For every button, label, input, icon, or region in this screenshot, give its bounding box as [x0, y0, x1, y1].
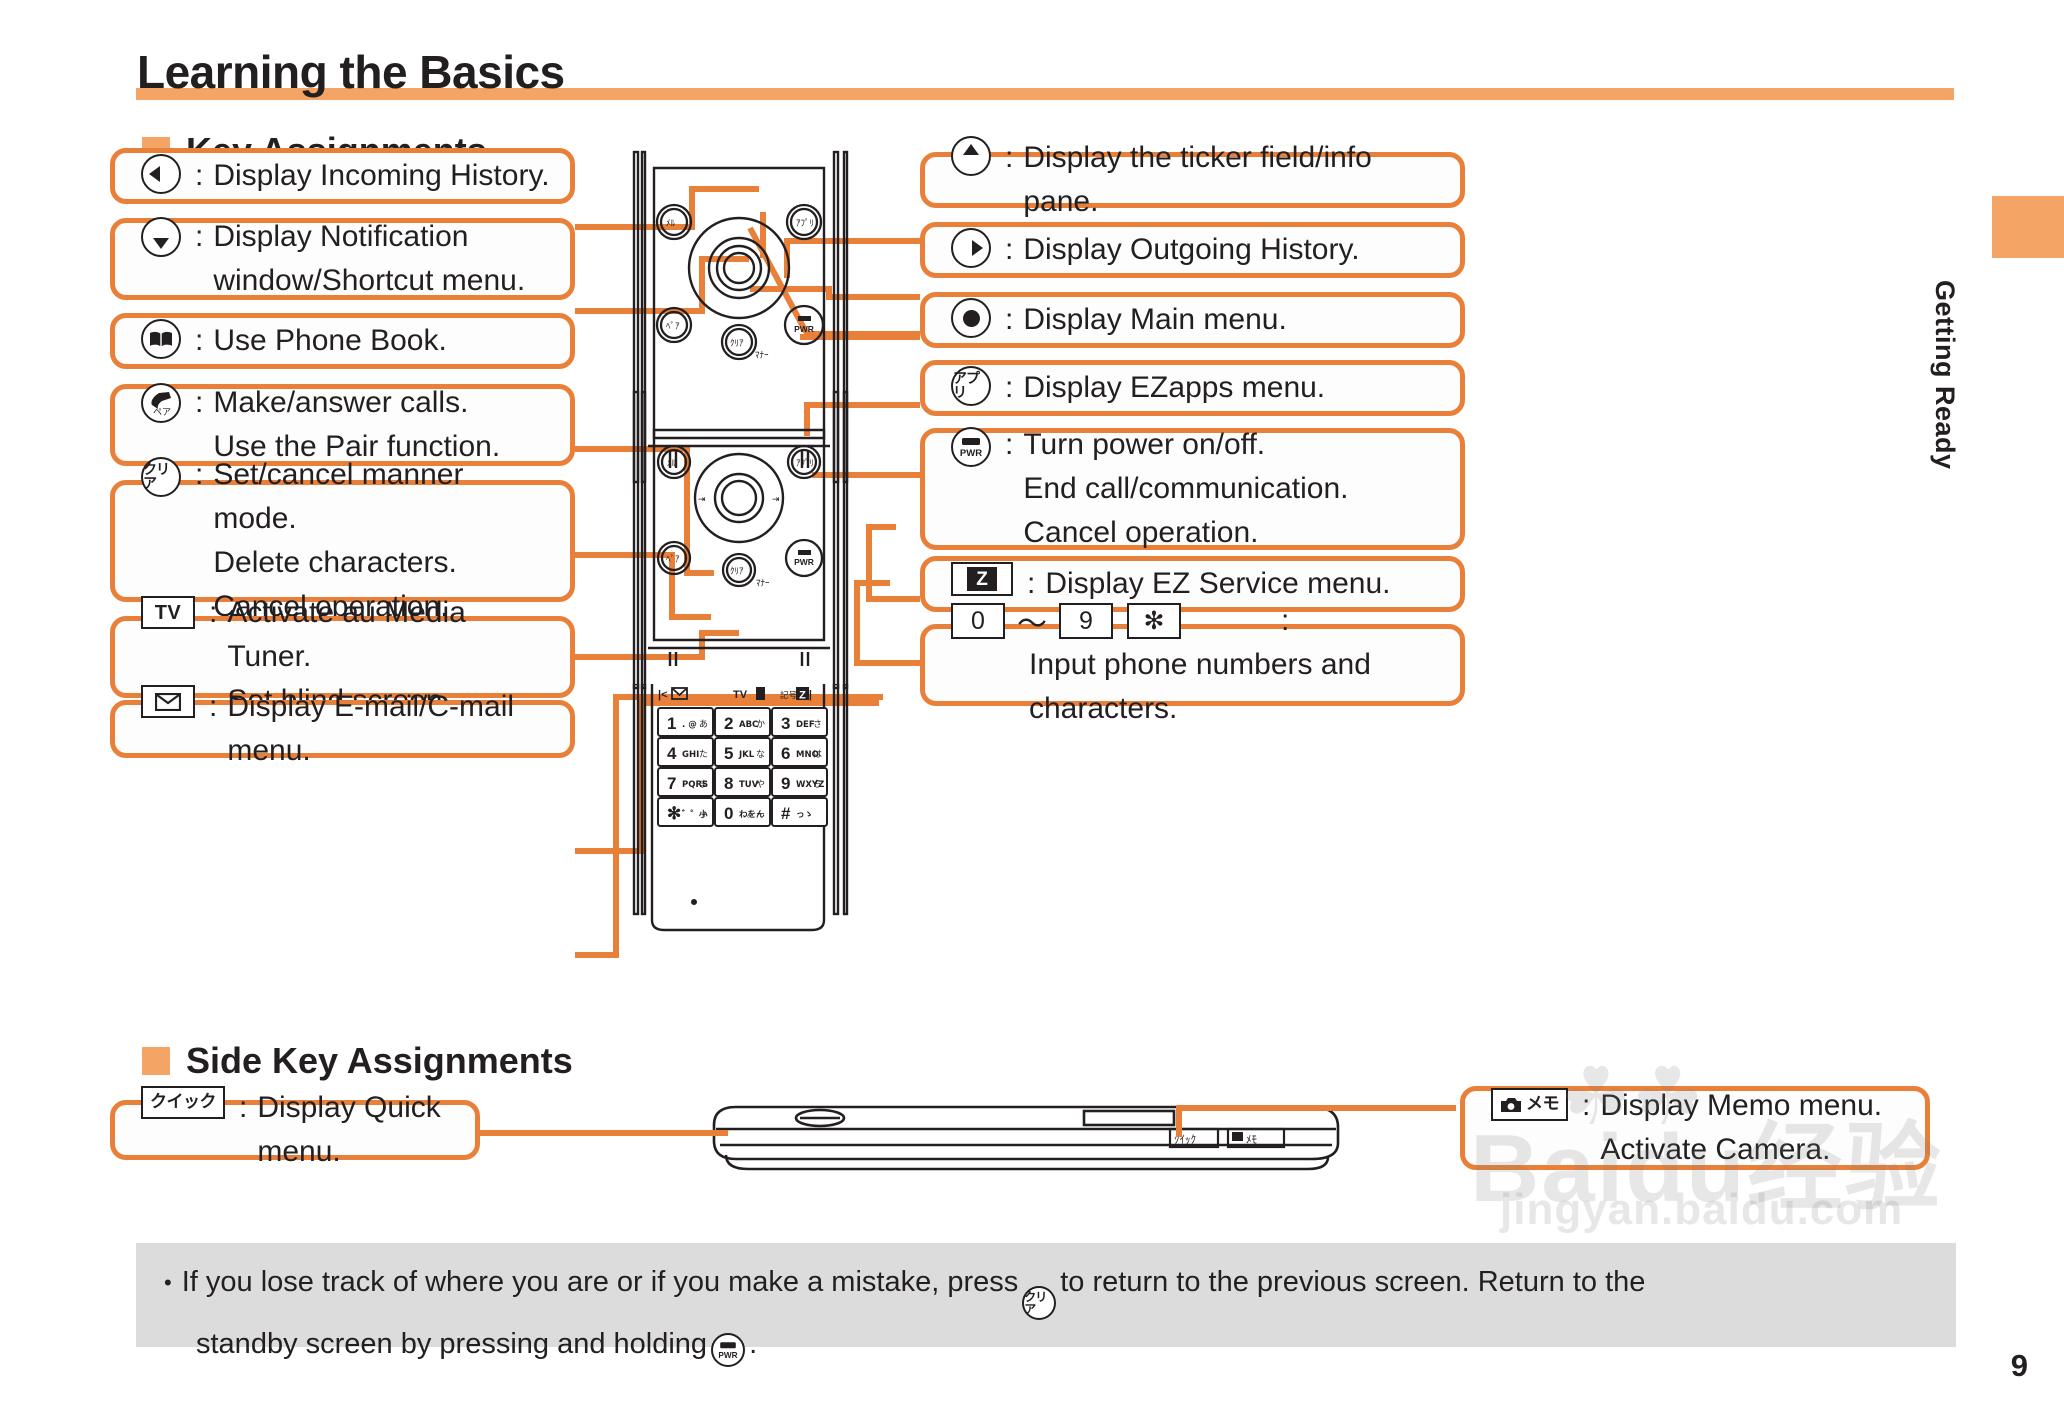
callout-text: Input phone numbers and characters. [1029, 643, 1444, 731]
separator: : [1005, 136, 1013, 180]
callout-manner-mode: クリア : Set/cancel manner mode. Delete cha… [110, 480, 575, 602]
keypad-key-sublabel: . @ [682, 720, 697, 730]
callout-power-key: PWR : Turn power on/off. End call/commun… [920, 428, 1465, 550]
note-line1-part2: to return to the previous screen. Return… [1060, 1266, 1645, 1298]
svg-text:⇥: ⇥ [698, 495, 706, 505]
callout-outgoing-history: : Display Outgoing History. [920, 222, 1465, 278]
connector-line [478, 1130, 728, 1136]
callout-ezapps-menu: アプリ : Display EZapps menu. [920, 360, 1465, 416]
svg-text:ﾏﾅｰ: ﾏﾅｰ [756, 578, 770, 589]
separator: : [239, 1086, 247, 1130]
page-number: 9 [2011, 1348, 2028, 1384]
keypad-key-sublabel: っゝ [796, 810, 813, 820]
callout-numeric-keys: 0 ～ 9 ✻ : Input phone numbers and charac… [920, 624, 1465, 706]
separator: : [1281, 599, 1289, 643]
svg-text:ペア: ペア [153, 408, 171, 418]
svg-text:ﾒﾓ: ﾒﾓ [1246, 1133, 1258, 1146]
separator: : [195, 381, 203, 425]
tv-key-label: TV [155, 603, 182, 623]
svg-text:ｱﾌﾟﾘ: ｱﾌﾟﾘ [796, 218, 814, 229]
separator: : [195, 215, 203, 259]
svg-text:ｸﾘｱ: ｸﾘｱ [730, 338, 744, 349]
section-heading-side-key-assignments: Side Key Assignments [142, 1040, 573, 1082]
keypad-key-kana: は [813, 749, 822, 760]
keypad-key-number: 7 [667, 774, 676, 793]
connector-line [1176, 1105, 1182, 1137]
separator: : [1005, 228, 1013, 272]
callout-text: Display Notification window/Shortcut men… [213, 215, 525, 303]
svg-text:ﾒﾙ: ﾒﾙ [666, 219, 676, 229]
dpad-right-icon [951, 228, 991, 268]
svg-text:TV: TV [733, 689, 748, 701]
phone-diagram-side-view: ｸｲｯｸ ﾒﾓ [700, 1085, 1360, 1195]
keypad-key-number: ✻ [667, 804, 681, 823]
watermark-text-secondary: jingyan.baidu.com [1500, 1185, 1903, 1235]
callout-incoming-history: : Display Incoming History. [110, 148, 575, 204]
separator: : [1005, 366, 1013, 410]
keypad-key-number: 4 [667, 744, 677, 763]
svg-text:Z: Z [799, 690, 806, 702]
keypad-key-kana: な [756, 749, 765, 760]
callout-ticker-field: : Display the ticker field/info pane. [920, 152, 1465, 208]
open-book-glyph [149, 331, 173, 348]
keypad-key-kana: や [756, 779, 765, 790]
keypad-key-kana: ま [699, 779, 708, 790]
callout-quick-menu: クイック : Display Quick menu. [110, 1100, 480, 1160]
quick-key-icon: クイック [141, 1086, 225, 1119]
range-symbol: ～ [1017, 599, 1047, 643]
keypad-key-number: 5 [724, 744, 733, 763]
callout-notification-window: : Display Notification window/Shortcut m… [110, 218, 575, 300]
svg-text:ｱﾌﾟﾘ: ｱﾌﾟﾘ [796, 458, 814, 469]
separator: : [1005, 298, 1013, 342]
keypad-key-number: 0 [724, 804, 733, 823]
separator: : [195, 319, 203, 363]
svg-text:ﾍﾟｱ: ﾍﾟｱ [666, 554, 680, 565]
svg-text:⇥: ⇥ [772, 495, 780, 505]
keypad-key-kana: 、。ー [742, 810, 765, 820]
numeric-key-9: 9 [1059, 603, 1113, 639]
callout-text: Display Main menu. [1023, 298, 1286, 342]
power-key-icon: PWR [951, 427, 991, 467]
keypad-key-sublabel: JKL [738, 750, 755, 760]
callout-text: Use Phone Book. [213, 319, 446, 363]
svg-text:PWR: PWR [794, 324, 814, 334]
separator: : [195, 154, 203, 198]
camera-glyph [1500, 1097, 1522, 1113]
callout-text: Display Outgoing History. [1023, 228, 1359, 272]
call-key-icon: ペア [141, 383, 181, 423]
dpad-up-icon [951, 136, 991, 176]
keypad-key-kana: ら [813, 779, 822, 790]
callout-phone-book: : Use Phone Book. [110, 313, 575, 369]
callout-text: Display the ticker field/info pane. [1023, 136, 1444, 224]
dpad-down-icon [141, 217, 181, 257]
callout-memo-camera: メモ : Display Memo menu. Activate Camera. [1460, 1086, 1930, 1170]
callout-text: Display Incoming History. [213, 154, 549, 198]
phone-diagram-keypad: |< TV >| 記号 Z 1. @あ2ABCか3DEFさ4GHIた5JKLな6… [612, 684, 882, 954]
svg-text:PWR: PWR [718, 1351, 737, 1360]
svg-text:ｸﾘｱ: ｸﾘｱ [730, 566, 744, 577]
keypad-key-number: 6 [781, 744, 790, 763]
svg-text:|<: |< [658, 689, 668, 701]
separator: : [209, 591, 217, 635]
numeric-key-star: ✻ [1127, 603, 1181, 639]
separator: : [1582, 1084, 1590, 1128]
center-key-icon [951, 298, 991, 338]
memo-key-label: メモ [1526, 1096, 1559, 1113]
phonebook-icon [141, 319, 181, 359]
ezapps-key-label: アプリ [953, 372, 989, 400]
ezapps-key-icon: アプリ [951, 366, 991, 406]
note-line1-part1: If you lose track of where you are or if… [182, 1266, 1019, 1298]
callout-text: Display E-mail/C-mail menu. [227, 685, 554, 773]
margin-tab-label: Getting Ready [1929, 280, 1960, 430]
callout-text: Display Quick menu. [257, 1086, 459, 1174]
envelope-glyph [155, 693, 181, 711]
separator: : [209, 685, 217, 729]
section-bullet-square [142, 1047, 170, 1075]
power-key-inline-icon: PWR [711, 1333, 745, 1367]
keypad-key-kana: あ [699, 719, 708, 730]
callout-email-menu: : Display E-mail/C-mail menu. [110, 700, 575, 758]
keypad-key-number: 1 [667, 714, 676, 733]
section-heading-label: Side Key Assignments [186, 1040, 573, 1082]
svg-text:PWR: PWR [960, 448, 982, 459]
phone-diagram-middle: ﾒﾙ ｱﾌﾟﾘ ﾍﾟｱ ｸﾘｱ ﾏﾅｰ ⇥ ⇥ PWR [612, 390, 882, 720]
clear-key-inline-icon: クリア [1022, 1286, 1056, 1320]
note-line2-part2: . [749, 1328, 757, 1360]
numeric-key-0: 0 [951, 603, 1005, 639]
callout-text: Turn power on/off. End call/communicatio… [1023, 423, 1348, 555]
clear-key-icon: クリア [141, 457, 181, 497]
note-text: •If you lose track of where you are or i… [164, 1258, 1954, 1368]
manual-page: Learning the Basics Key Assignments Side… [0, 0, 2064, 1406]
callout-text: Display Memo menu. Activate Camera. [1600, 1084, 1882, 1172]
quick-key-label: クイック [150, 1094, 216, 1111]
clear-key-label: クリア [143, 463, 179, 491]
separator: : [195, 453, 203, 497]
callout-main-menu: : Display Main menu. [920, 292, 1465, 348]
svg-text:ﾒﾙ: ﾒﾙ [667, 459, 677, 469]
mail-key-icon [141, 685, 195, 718]
pwr-inline-glyph: PWR [715, 1337, 741, 1363]
tv-key-icon: TV [141, 596, 195, 629]
keypad-key-kana: さ [813, 719, 822, 730]
callout-text: Display EZapps menu. [1023, 366, 1325, 410]
clear-key-inline-label: クリア [1024, 1291, 1054, 1315]
pwr-glyph: PWR [956, 432, 986, 462]
svg-text:ﾏﾅｰ: ﾏﾅｰ [755, 350, 769, 361]
separator: : [1005, 423, 1013, 467]
keypad-key-number: 9 [781, 774, 790, 793]
keypad-key-kana: か [756, 719, 765, 730]
note-line2-part1: standby screen by pressing and holding [196, 1328, 707, 1360]
page-title: Learning the Basics [137, 45, 565, 99]
keypad-key-kana: + [700, 810, 708, 820]
keypad-key-number: 3 [781, 714, 790, 733]
svg-text:ﾍﾟｱ: ﾍﾟｱ [666, 321, 680, 332]
keypad-key-sublabel: GHI [682, 750, 699, 760]
ez-glyph: Z [967, 567, 997, 591]
svg-text:記号: 記号 [780, 690, 797, 701]
handset-pair-glyph: ペア [145, 387, 177, 419]
keypad-key-kana: た [699, 749, 708, 760]
svg-text:PWR: PWR [794, 557, 814, 567]
dpad-left-icon [141, 154, 181, 194]
keypad-key-number: # [781, 804, 791, 823]
margin-tab-block [1992, 196, 2064, 258]
connector-line [1176, 1105, 1456, 1111]
note-bullet: • [164, 1270, 172, 1295]
keypad-key-number: 8 [724, 774, 733, 793]
keypad-key-number: 2 [724, 714, 733, 733]
memo-camera-key-icon: メモ [1491, 1088, 1568, 1121]
ez-service-key-icon: Z [951, 562, 1013, 596]
